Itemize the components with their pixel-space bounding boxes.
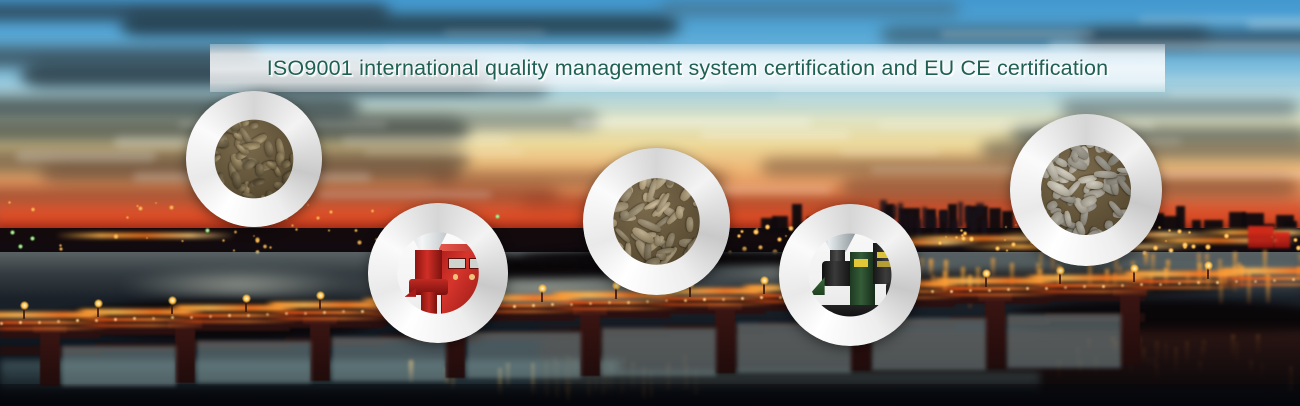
bridge-pier: [1120, 293, 1140, 365]
traffic-light-trail: [1120, 286, 1250, 289]
bridge-pier: [310, 321, 330, 381]
cloud-streak: [1060, 100, 1300, 116]
cabinet-gauge: [469, 258, 487, 269]
cabinet-knob: [485, 274, 491, 280]
light-reflection: [991, 258, 995, 277]
cloud-streak: [120, 14, 680, 36]
railing-light: [532, 304, 535, 307]
city-light-dot: [222, 239, 225, 242]
city-light-dot: [1153, 245, 1158, 250]
cabinet-knob: [453, 274, 459, 280]
railing-light: [304, 312, 307, 315]
water-under-bridge: [467, 332, 581, 378]
city-light-dot: [961, 234, 964, 237]
traffic-light-trail: [930, 293, 1060, 296]
cabinet-gauge: [448, 258, 466, 269]
cloud-streak: [660, 2, 960, 16]
cloud-wisp: [364, 150, 524, 155]
headline-text: ISO9001 international quality management…: [267, 56, 1109, 81]
bridge-lamp: [538, 284, 547, 293]
railing-light: [513, 305, 516, 308]
red-lit-building: [1248, 226, 1274, 248]
bridge-lamp: [242, 294, 251, 303]
bridge-lamp: [982, 269, 991, 278]
railing-light: [0, 322, 3, 325]
city-light-dot: [1004, 239, 1006, 241]
bridge-lamp: [1130, 264, 1139, 273]
city-light-dot: [1188, 231, 1190, 233]
city-light-dot: [1293, 238, 1298, 243]
railing-light: [722, 298, 725, 301]
city-light-dot: [169, 205, 174, 210]
city-light-dot: [1177, 229, 1182, 234]
cloud-wisp: [15, 151, 157, 163]
traffic-light-trail: [170, 320, 300, 323]
building-silhouette: [772, 216, 788, 232]
cloud-wisp: [341, 135, 512, 146]
city-light-dot: [354, 229, 358, 233]
traffic-light-trail: [1215, 268, 1300, 274]
machine-stand: [421, 292, 437, 324]
railing-light: [1254, 280, 1257, 283]
traffic-light-trail: [550, 307, 680, 310]
city-light-dot: [234, 230, 237, 233]
railing-light: [1159, 283, 1162, 286]
distant-lamp: [205, 228, 210, 233]
railing-light: [95, 319, 98, 322]
bridge-lamp: [94, 299, 103, 308]
bridge-pier: [175, 325, 195, 383]
city-light-dot: [253, 235, 255, 237]
railing-light: [1273, 279, 1276, 282]
cloud-wisp: [839, 149, 940, 155]
city-light-dot: [1011, 242, 1016, 247]
hopper-rim: [814, 220, 862, 225]
water-under-bridge: [602, 328, 716, 376]
railing-light: [1045, 287, 1048, 290]
city-light-dot: [146, 237, 148, 239]
city-light-dot: [181, 240, 183, 242]
circle-photo-inner: [592, 157, 721, 286]
railing-light: [247, 314, 250, 317]
flywheel: [400, 318, 414, 332]
railing-light: [361, 310, 364, 313]
traffic-light-trail: [0, 327, 110, 330]
control-label: [877, 261, 900, 267]
city-light-dot: [758, 245, 763, 250]
city-light-dot: [1296, 245, 1300, 250]
wheel: [889, 311, 905, 327]
city-light-dot: [357, 240, 362, 245]
distant-lamp: [10, 230, 15, 235]
city-light-dot: [1015, 224, 1017, 226]
railing-light: [209, 315, 212, 318]
product-circle-light-wood-pellets[interactable]: [583, 148, 730, 295]
traffic-light-trail: [1215, 283, 1300, 286]
city-light-dot: [1205, 244, 1210, 249]
railing-light: [1007, 288, 1010, 291]
building-silhouette: [976, 203, 984, 215]
water-under-bridge: [1007, 314, 1121, 368]
water-under-bridge: [62, 346, 176, 386]
bottom-shadow: [0, 384, 1300, 406]
city-light-dot: [1182, 242, 1188, 248]
stand-base: [413, 322, 445, 329]
city-light-dot: [737, 234, 741, 238]
circle-photo-inner: [788, 213, 912, 337]
city-light-dot: [785, 235, 787, 237]
building-silhouette: [934, 217, 937, 236]
building-silhouette: [989, 208, 1001, 232]
bridge-pier: [715, 307, 735, 373]
circle-photo-inner: [195, 100, 313, 218]
light-reflection: [929, 259, 933, 275]
city-light-dot: [113, 234, 119, 240]
building-silhouette: [1176, 206, 1185, 232]
city-light-dot: [155, 202, 157, 204]
wood-pellet: [195, 207, 207, 217]
cloud-wisp: [573, 118, 811, 127]
pellet-vignette: [1019, 123, 1153, 257]
cabinet-lid: [439, 244, 499, 251]
city-light-dot: [263, 244, 268, 249]
cloud-wisp: [443, 29, 546, 36]
railing-light: [741, 297, 744, 300]
distant-lamp: [18, 244, 23, 249]
product-circle-red-pellet-mill[interactable]: [368, 203, 508, 343]
product-circle-black-green-pellet-mill[interactable]: [779, 204, 921, 346]
railing-light: [627, 301, 630, 304]
city-light-dot: [777, 237, 782, 242]
hopper-rim: [405, 221, 453, 226]
traffic-light-trail: [1025, 290, 1155, 293]
circle-photo-inner: [1019, 123, 1153, 257]
water-under-bridge: [197, 341, 311, 383]
city-light-dot: [1168, 229, 1170, 231]
cloud-wisp: [1168, 89, 1300, 96]
railing-light: [152, 317, 155, 320]
cloud-wisp: [940, 31, 1095, 37]
wheel: [820, 311, 836, 327]
traffic-light-trail: [1215, 277, 1300, 280]
pellet-vignette: [195, 100, 313, 218]
building-silhouette: [958, 202, 963, 228]
bridge-pier: [985, 298, 1005, 368]
distant-lamp: [30, 236, 35, 241]
railing-light: [266, 313, 269, 316]
cloud-wisp: [870, 167, 1027, 173]
motor-fan-cover: [907, 284, 912, 305]
city-light-dot: [955, 236, 958, 239]
city-light-dot: [1224, 233, 1229, 238]
traffic-light-trail: [645, 303, 775, 306]
city-light-dot: [969, 236, 975, 242]
traffic-light-trail: [265, 317, 395, 320]
railing-light: [950, 290, 953, 293]
railing-light: [1064, 286, 1067, 289]
railing-light: [1216, 281, 1219, 284]
city-light-dot: [126, 216, 129, 219]
bridge-pier: [40, 330, 60, 386]
promo-banner: ISO9001 international quality management…: [0, 0, 1300, 406]
city-light-dot: [31, 207, 35, 211]
railing-light: [570, 303, 573, 306]
circle-photo-inner: [377, 212, 499, 334]
building-silhouette: [952, 220, 958, 231]
city-light-dot: [945, 236, 947, 238]
city-light-dot: [371, 209, 374, 212]
railing-light: [988, 289, 991, 292]
railing-light: [190, 316, 193, 319]
cloud-wisp: [700, 130, 850, 138]
cabinet-knob: [469, 274, 475, 280]
building-silhouette: [922, 207, 927, 228]
city-light-dot: [995, 246, 1000, 251]
pellet-vignette: [592, 157, 721, 286]
railing-light: [38, 321, 41, 324]
bridge-pier: [580, 312, 600, 376]
building-silhouette: [928, 214, 934, 227]
product-circle-wood-pellets-closeup[interactable]: [186, 91, 322, 227]
railing-light: [1102, 285, 1105, 288]
product-circle-large-grey-pellets[interactable]: [1010, 114, 1162, 266]
traffic-light-trail: [75, 324, 205, 327]
wood-pellet: [1019, 136, 1032, 147]
nameplate: [854, 259, 868, 267]
cloud-wisp: [1246, 20, 1300, 29]
building-silhouette: [1002, 211, 1013, 232]
railing-light: [684, 299, 687, 302]
headline-banner-bar: ISO9001 international quality management…: [210, 44, 1165, 92]
city-light-dot: [59, 244, 62, 247]
red-lit-building: [1274, 232, 1290, 248]
control-label: [877, 252, 900, 258]
water-under-bridge: [332, 337, 446, 381]
